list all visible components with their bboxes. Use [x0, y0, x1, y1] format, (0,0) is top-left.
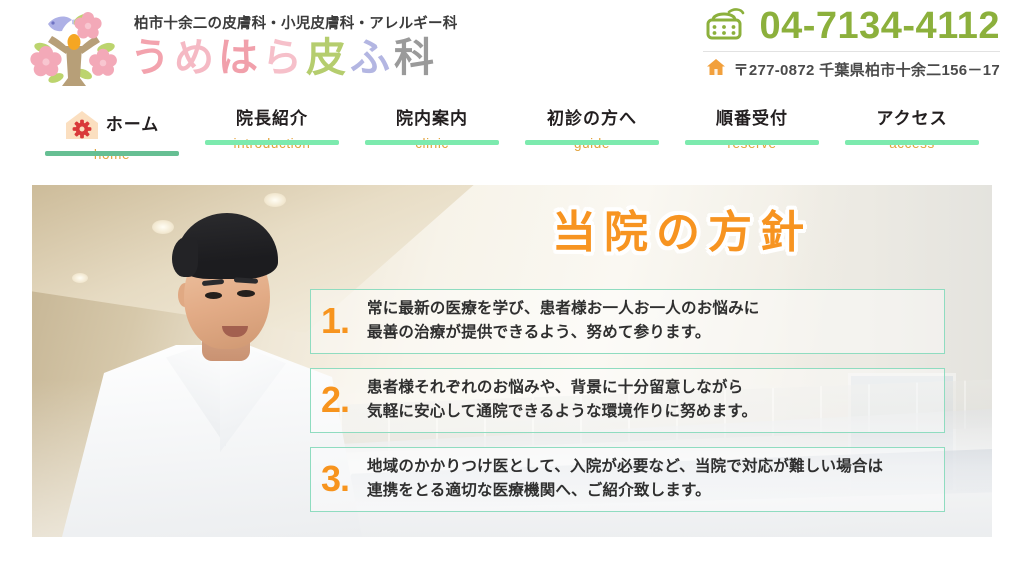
nav-underline-clinic	[365, 140, 499, 145]
nav-label-row-guide: 初診の方へ	[547, 110, 637, 129]
doctor-eye-right	[237, 290, 255, 297]
nav-label-ja-clinic: 院内案内	[396, 110, 468, 129]
nav-item-guide[interactable]: 初診の方へ guide	[512, 100, 672, 151]
nav-label-row-access: アクセス	[876, 110, 947, 129]
policy-item: 3. 地域のかかりつけ医として、入院が必要など、当院で対応が難しい場合は 連携を…	[310, 447, 945, 512]
contact-block: 04-7134-4112 〒277-0872 千葉県柏市十余二156－17	[703, 6, 1000, 81]
policy-text: 地域のかかりつけ医として、入院が必要など、当院で対応が難しい場合は 連携をとる適…	[367, 456, 883, 502]
nav-item-access[interactable]: アクセス access	[832, 100, 992, 151]
hero-title: 当院の方針	[552, 211, 812, 255]
brand-name-char-7: 科	[394, 36, 438, 80]
doctor-eye-left	[205, 292, 222, 299]
nav-label-ja-home: ホーム	[106, 116, 160, 135]
policy-line: 常に最新の医療を学び、患者様お一人お一人のお悩みに	[367, 298, 760, 320]
nav-underline-introduction	[205, 140, 339, 145]
nav-label-row-clinic: 院内案内	[396, 110, 468, 129]
brand-name-char-1: う	[130, 36, 174, 80]
hero-banner: 当院の方針 1. 常に最新の医療を学び、患者様お一人お一人のお悩みに 最善の治療…	[32, 185, 992, 537]
brand-name-char-6: ふ	[350, 36, 394, 80]
nav-underline-guide	[525, 140, 659, 145]
doctor-hair	[176, 213, 278, 279]
brand-logo[interactable]: 柏市十余二の皮膚科・小児皮膚科・アレルギー科 うめはら皮ふ科	[0, 0, 457, 92]
policy-number: 2.	[321, 382, 367, 418]
contact-divider	[703, 51, 1000, 52]
policy-line: 患者様それぞれのお悩みや、背景に十分留意しながら	[367, 377, 757, 399]
policy-text: 常に最新の医療を学び、患者様お一人お一人のお悩みに 最善の治療が提供できるよう、…	[367, 298, 760, 344]
nav-label-row-home: ホーム	[65, 110, 160, 140]
brand-name: うめはら皮ふ科	[130, 37, 457, 79]
nav-label-row-introduction: 院長紹介	[236, 110, 308, 129]
policy-list: 1. 常に最新の医療を学び、患者様お一人お一人のお悩みに 最善の治療が提供できる…	[310, 289, 945, 512]
nav-label-ja-introduction: 院長紹介	[236, 110, 308, 129]
brand-name-char-3: は	[218, 36, 262, 80]
brand-name-char-4: ら	[262, 36, 306, 80]
policy-item: 2. 患者様それぞれのお悩みや、背景に十分留意しながら 気軽に安心して通院できる…	[310, 368, 945, 433]
nav-item-reserve[interactable]: 順番受付 reserve	[672, 100, 832, 151]
main-navigation: ホーム home 院長紹介 introduction 院内案内 clinic 初…	[0, 100, 1024, 185]
telephone-icon	[703, 6, 747, 47]
nav-item-clinic[interactable]: 院内案内 clinic	[352, 100, 512, 151]
address-row: 〒277-0872 千葉県柏市十余二156－17	[703, 58, 1000, 81]
nav-label-ja-access: アクセス	[876, 110, 947, 129]
policy-item: 1. 常に最新の医療を学び、患者様お一人お一人のお悩みに 最善の治療が提供できる…	[310, 289, 945, 354]
policy-line: 連携をとる適切な医療機関へ、ご紹介致します。	[367, 480, 883, 502]
policy-line: 地域のかかりつけ医として、入院が必要など、当院で対応が難しい場合は	[367, 456, 883, 478]
brand-text: 柏市十余二の皮膚科・小児皮膚科・アレルギー科 うめはら皮ふ科	[130, 17, 457, 79]
house-icon	[706, 58, 726, 81]
site-header: 柏市十余二の皮膚科・小児皮膚科・アレルギー科 うめはら皮ふ科 04-7134-4	[0, 0, 1024, 100]
tree-blossom-bird-logo-icon	[22, 4, 126, 92]
home-gear-icon	[65, 110, 99, 140]
policy-line: 最善の治療が提供できるよう、努めて参ります。	[367, 322, 760, 344]
address-text: 〒277-0872 千葉県柏市十余二156－17	[734, 59, 1000, 80]
brand-name-char-2: め	[174, 36, 218, 80]
policy-number: 3.	[321, 461, 367, 497]
nav-item-home[interactable]: ホーム home	[32, 100, 192, 162]
nav-label-ja-guide: 初診の方へ	[547, 110, 637, 129]
brand-name-char-5: 皮	[306, 36, 350, 80]
brand-tagline: 柏市十余二の皮膚科・小児皮膚科・アレルギー科	[130, 17, 457, 32]
phone-number[interactable]: 04-7134-4112	[759, 7, 1000, 47]
nav-underline-reserve	[685, 140, 819, 145]
policy-text: 患者様それぞれのお悩みや、背景に十分留意しながら 気軽に安心して通院できるような…	[367, 377, 757, 423]
nav-item-introduction[interactable]: 院長紹介 introduction	[192, 100, 352, 151]
nav-underline-home	[45, 151, 179, 156]
nav-label-ja-reserve: 順番受付	[716, 110, 788, 129]
nav-underline-access	[845, 140, 979, 145]
policy-number: 1.	[321, 303, 367, 339]
nav-label-row-reserve: 順番受付	[716, 110, 788, 129]
policy-line: 気軽に安心して通院できるような環境作りに努めます。	[367, 401, 757, 423]
phone-row[interactable]: 04-7134-4112	[703, 6, 1000, 47]
